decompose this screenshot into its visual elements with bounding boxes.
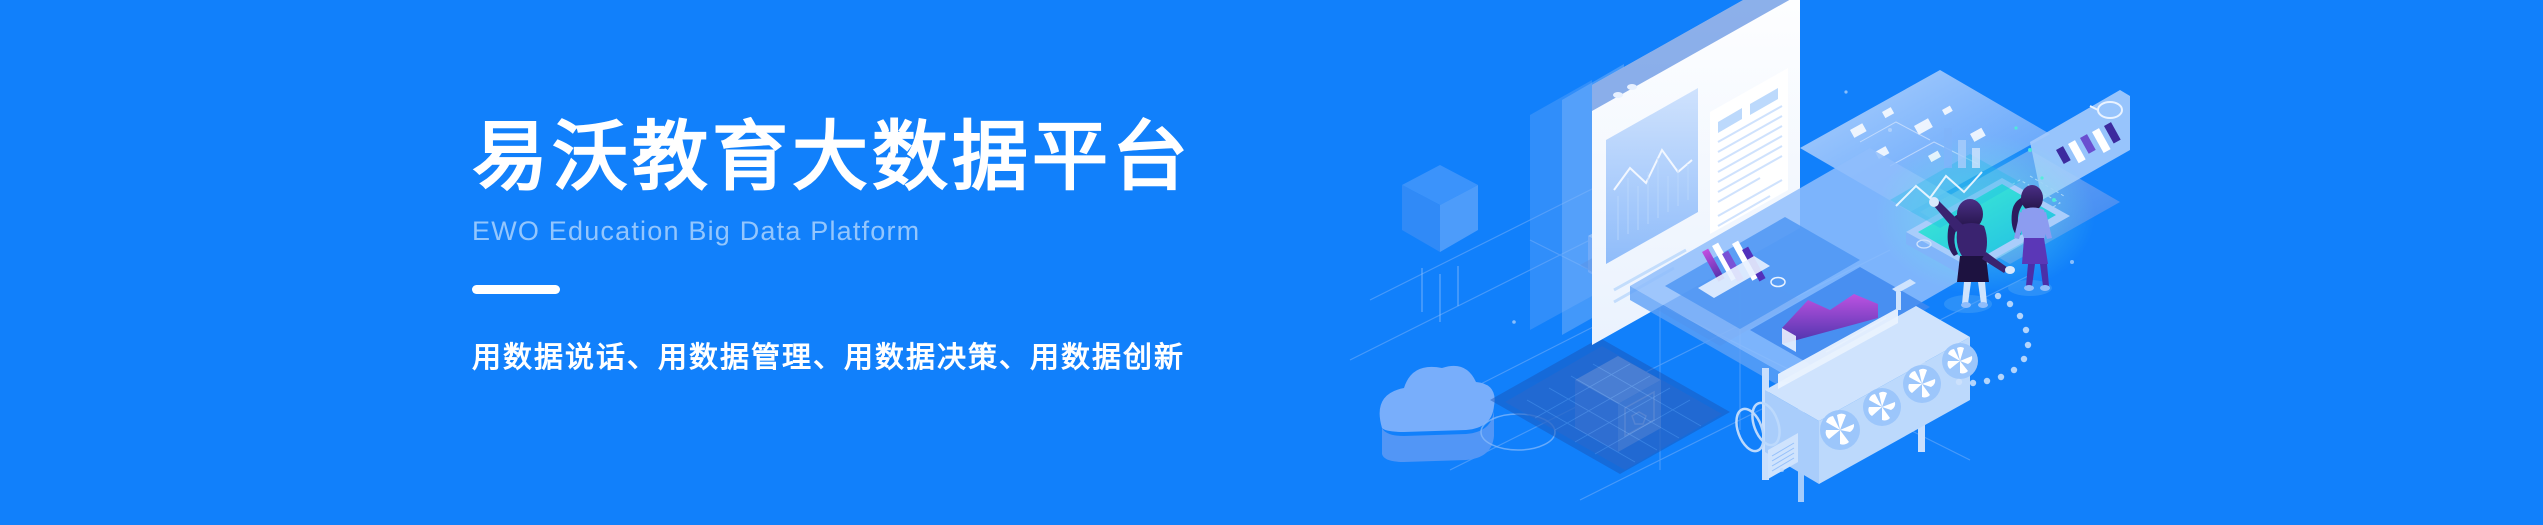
cloud-icon bbox=[1380, 366, 1495, 462]
floating-wireframe-cube bbox=[1402, 165, 1478, 322]
page-subtitle: EWO Education Big Data Platform bbox=[472, 216, 1292, 247]
grid-slab bbox=[1505, 346, 1722, 470]
hero-text-block: 易沃教育大数据平台 EWO Education Big Data Platfor… bbox=[472, 118, 1292, 376]
isometric-big-data-illustration bbox=[1330, 0, 2130, 525]
page-title: 易沃教育大数据平台 bbox=[472, 118, 1292, 198]
hero-banner: 易沃教育大数据平台 EWO Education Big Data Platfor… bbox=[0, 0, 2543, 525]
title-divider bbox=[472, 285, 560, 294]
page-tagline: 用数据说话、用数据管理、用数据决策、用数据创新 bbox=[472, 334, 1292, 376]
